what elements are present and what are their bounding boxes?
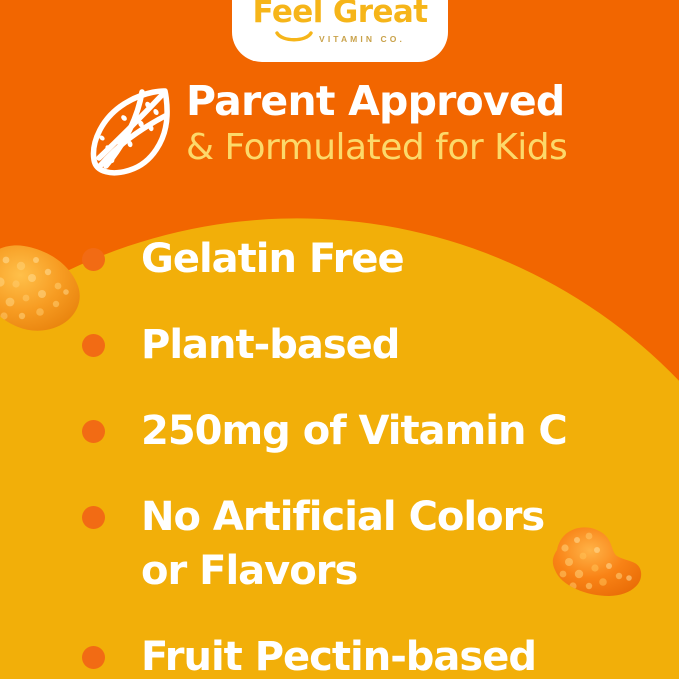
claim-line: Plant-based xyxy=(141,318,399,372)
claim-line: No Artificial Colors xyxy=(141,490,544,544)
list-item: Gelatin Free xyxy=(0,232,679,286)
smile-swoosh-icon xyxy=(275,30,313,48)
claims-list: Gelatin Free Plant-based 250mg of Vitami… xyxy=(0,232,679,679)
logo-badge: Feel Great VITAMIN CO. xyxy=(232,0,448,62)
bullet-dot-icon xyxy=(82,646,105,669)
promo-graphic: Feel Great VITAMIN CO. xyxy=(0,0,679,679)
bullet-dot-icon xyxy=(82,334,105,357)
claim-line: or Flavors xyxy=(141,544,544,598)
claim-text: Fruit Pectin-based xyxy=(141,630,536,679)
claim-text: Gelatin Free xyxy=(141,232,404,286)
claim-line: Gelatin Free xyxy=(141,232,404,286)
list-item: No Artificial Colors or Flavors xyxy=(0,490,679,598)
logo-wordmark: Feel Great xyxy=(232,0,448,28)
claim-text: No Artificial Colors or Flavors xyxy=(141,490,544,598)
page-title: Parent Approved xyxy=(186,78,656,124)
logo-subtext-row: VITAMIN CO. xyxy=(232,30,448,48)
bullet-dot-icon xyxy=(82,248,105,271)
logo-subtext: VITAMIN CO. xyxy=(319,34,405,44)
page-subtitle: & Formulated for Kids xyxy=(186,126,656,170)
claim-line: 250mg of Vitamin C xyxy=(141,404,567,458)
claim-line: Fruit Pectin-based xyxy=(141,630,536,679)
list-item: 250mg of Vitamin C xyxy=(0,404,679,458)
header-block: Parent Approved & Formulated for Kids xyxy=(0,78,679,190)
list-item: Fruit Pectin-based xyxy=(0,630,679,679)
claim-text: Plant-based xyxy=(141,318,399,372)
orange-slice-icon xyxy=(86,86,172,183)
list-item: Plant-based xyxy=(0,318,679,372)
claim-text: 250mg of Vitamin C xyxy=(141,404,567,458)
headline-block: Parent Approved & Formulated for Kids xyxy=(186,78,656,170)
bullet-dot-icon xyxy=(82,420,105,443)
bullet-dot-icon xyxy=(82,506,105,529)
